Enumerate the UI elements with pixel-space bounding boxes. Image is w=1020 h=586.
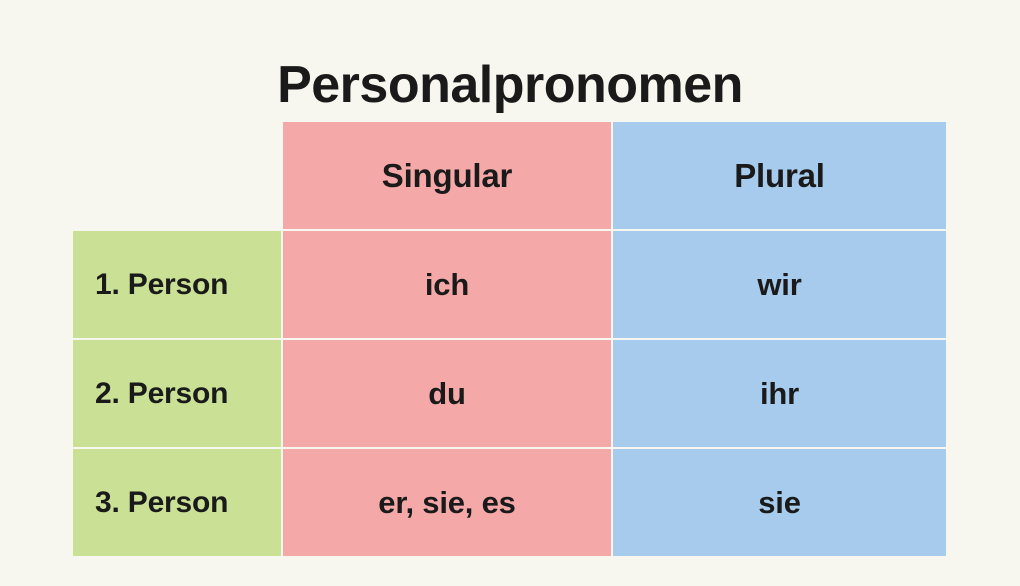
table-row: 2. Person du ihr [73,340,946,449]
cell-1-person-plural: wir [613,231,946,340]
table-row: 3. Person er, sie, es sie [73,449,946,556]
cell-2-person-singular: du [283,340,613,449]
table-row: 1. Person ich wir [73,231,946,340]
row-header-2-person: 2. Person [73,340,283,449]
cell-3-person-plural: sie [613,449,946,556]
page-title: Personalpronomen [0,59,1020,111]
row-header-1-person: 1. Person [73,231,283,340]
table-corner-cell [73,122,283,231]
table-header-row: Singular Plural [73,122,946,231]
cell-2-person-plural: ihr [613,340,946,449]
personal-pronouns-table: Singular Plural 1. Person ich wir 2. Per… [73,122,946,556]
row-header-3-person: 3. Person [73,449,283,556]
cell-3-person-singular: er, sie, es [283,449,613,556]
column-header-singular: Singular [283,122,613,231]
column-header-plural: Plural [613,122,946,231]
cell-1-person-singular: ich [283,231,613,340]
